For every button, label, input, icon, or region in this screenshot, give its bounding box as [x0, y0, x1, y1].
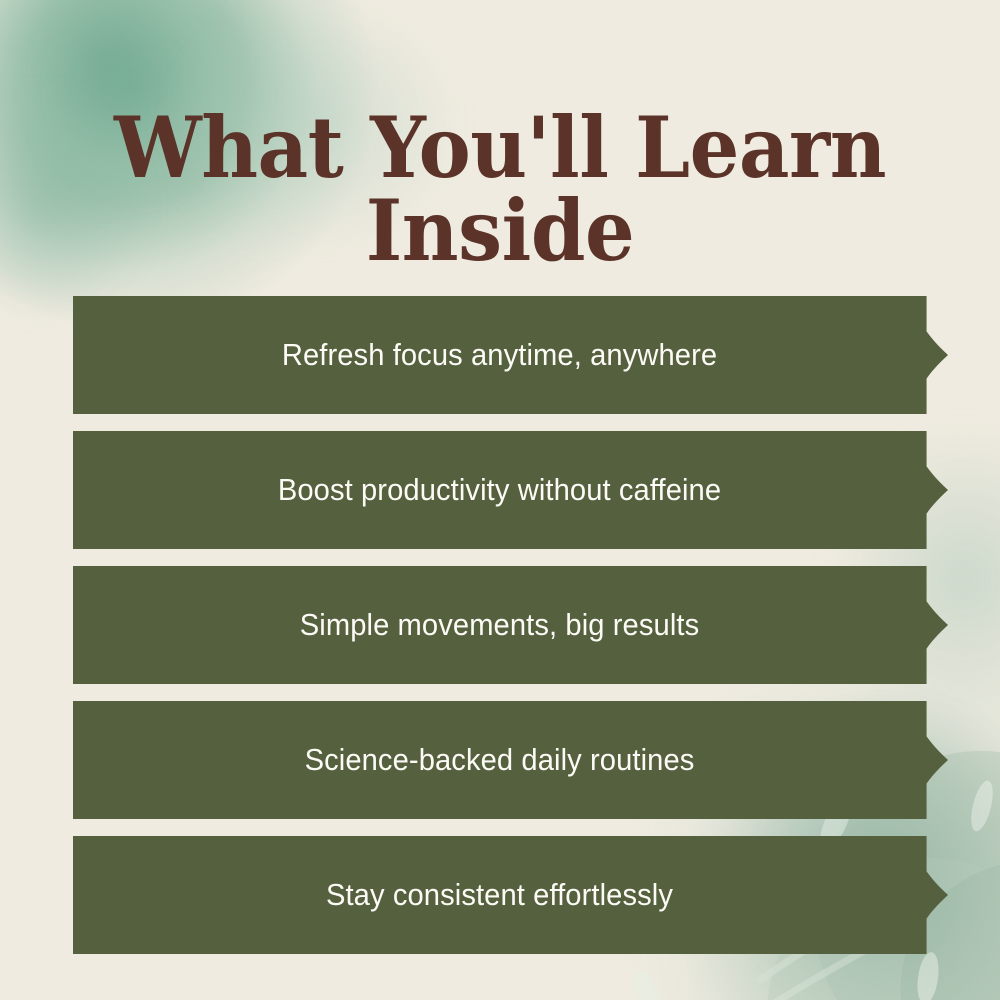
list-item[interactable]: Simple movements, big results: [73, 566, 948, 684]
list-item[interactable]: Refresh focus anytime, anywhere: [73, 296, 948, 414]
list-item-label: Boost productivity without caffeine: [99, 431, 901, 549]
list-item[interactable]: Science-backed daily routines: [73, 701, 948, 819]
list-item[interactable]: Stay consistent effortlessly: [73, 836, 948, 954]
poster-canvas: What You'll Learn Inside Refresh focus a…: [0, 0, 1000, 1000]
list-item-label: Stay consistent effortlessly: [99, 836, 901, 954]
list-item[interactable]: Boost productivity without caffeine: [73, 431, 948, 549]
benefits-list: Refresh focus anytime, anywhere Boost pr…: [73, 296, 948, 954]
list-item-label: Science-backed daily routines: [99, 701, 901, 819]
list-item-label: Simple movements, big results: [99, 566, 901, 684]
page-title: What You'll Learn Inside: [35, 106, 965, 272]
list-item-label: Refresh focus anytime, anywhere: [99, 296, 901, 414]
